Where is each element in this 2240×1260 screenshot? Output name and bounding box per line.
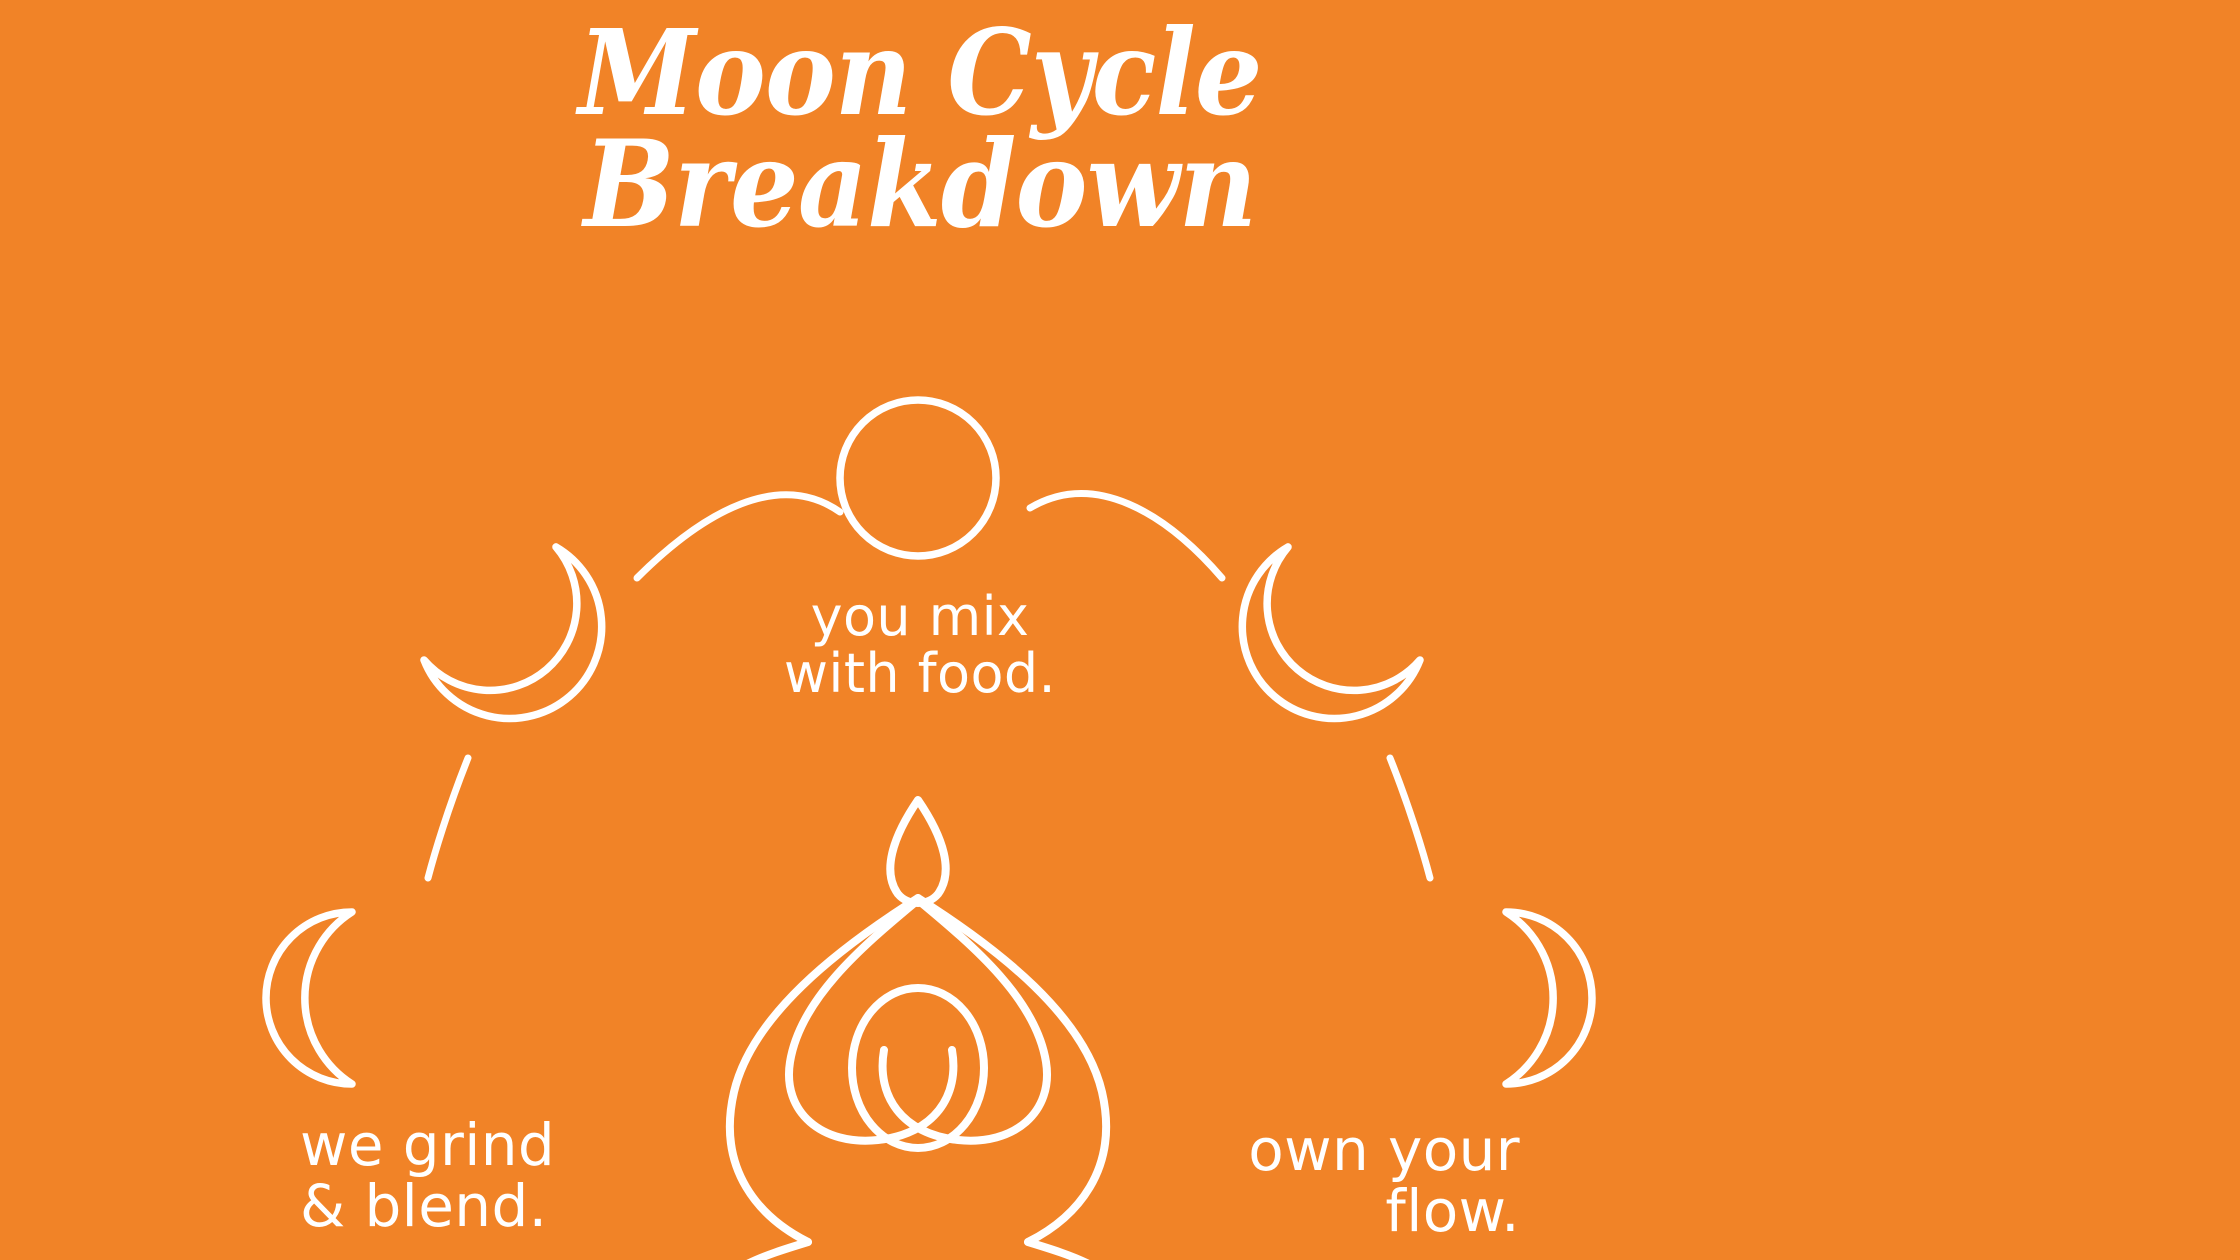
figure-flame-crown: [890, 800, 945, 903]
figure-left-arm-loop: [789, 900, 953, 1141]
poster-canvas: Moon Cycle Breakdown: [0, 0, 2240, 1260]
figure-crossed-legs: [701, 1242, 1136, 1260]
caption-you-mix-with-food: you mix with food.: [690, 588, 1150, 702]
caption-we-grind-and-blend: we grind & blend.: [300, 1115, 760, 1238]
connector-arc-right-lower: [1390, 758, 1430, 878]
waxing-gibbous-moon-icon: [1242, 547, 1420, 718]
connector-arc-right-upper: [1030, 494, 1222, 578]
new-moon-outline-icon: [840, 400, 996, 556]
meditating-lotus-figure-icon: [701, 800, 1136, 1260]
waning-gibbous-moon-icon: [424, 547, 602, 718]
waning-crescent-moon-icon: [266, 912, 352, 1084]
connector-arc-left-lower: [428, 758, 468, 878]
figure-right-arm-loop: [883, 900, 1047, 1141]
caption-own-your-flow: own your flow.: [1080, 1120, 1520, 1243]
waxing-crescent-moon-icon: [1506, 912, 1592, 1084]
connector-arc-left-upper: [637, 495, 840, 578]
figure-outer-right-torso: [918, 898, 1106, 1242]
